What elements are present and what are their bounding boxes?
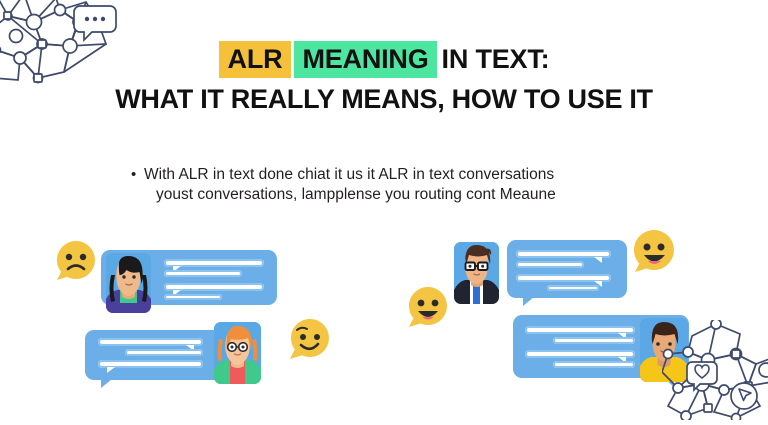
message-line [525,350,635,358]
message-line [516,274,611,282]
message-line [164,259,264,267]
avatar-woman-glasses-red-hair [214,322,261,384]
avatar-man-glasses [454,242,499,304]
smirking-face-emoji [288,318,332,367]
message-line [553,361,635,368]
message-line [125,349,203,356]
message-line [547,285,599,291]
message-line [516,261,584,268]
grinning-face-emoji [631,229,677,280]
message-line [164,283,264,291]
message-line [164,294,222,300]
avatar-man-yellow-shirt [640,318,688,382]
frowning-face-emoji [54,240,98,289]
chat-bubble-left-bottom [85,330,233,380]
message-line [98,338,203,346]
message-line [525,326,635,334]
message-line [164,270,242,277]
chat-illustration-scene [0,0,768,419]
message-line [553,337,635,344]
avatar-woman-dark-hair [106,253,151,313]
chat-bubble-right-top [507,240,627,298]
message-line [516,250,611,258]
message-line [98,360,203,368]
grinning-face-emoji [406,286,450,335]
